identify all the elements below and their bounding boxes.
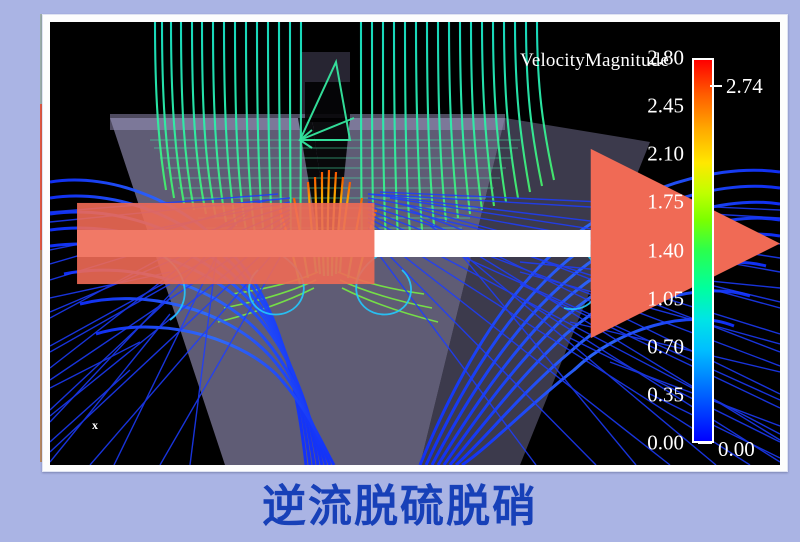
- colorbar-tick: 2.10: [610, 142, 684, 167]
- axis-x-label: x: [92, 418, 98, 433]
- colorbar-tick: 2.80: [610, 46, 684, 71]
- colorbar-tick: 1.05: [610, 286, 684, 311]
- colorbar-min-marker: [698, 441, 712, 444]
- colorbar-tick: 0.00: [610, 431, 684, 456]
- colorbar-tick: 2.45: [610, 94, 684, 119]
- colorbar-tick: 1.40: [610, 238, 684, 263]
- colorbar-gradient[interactable]: [692, 58, 714, 443]
- colorbar-range-min-label: 0.00: [718, 437, 755, 462]
- figure-caption: 逆流脱硫脱硝: [0, 476, 800, 538]
- cfd-render-viewport[interactable]: x VelocityMagnitude 2.80 2.45 2.10 1.75 …: [50, 22, 780, 465]
- colorbar-tick: 0.35: [610, 382, 684, 407]
- colorbar-tick-labels: 2.80 2.45 2.10 1.75 1.40 1.05 0.70 0.35 …: [610, 58, 684, 443]
- colorbar-range-max-label: 2.74: [726, 74, 763, 99]
- colorbar-tick: 0.70: [610, 334, 684, 359]
- colorbar-max-marker: [710, 85, 722, 87]
- figure-root: x VelocityMagnitude 2.80 2.45 2.10 1.75 …: [0, 0, 800, 542]
- colorbar-tick: 1.75: [610, 190, 684, 215]
